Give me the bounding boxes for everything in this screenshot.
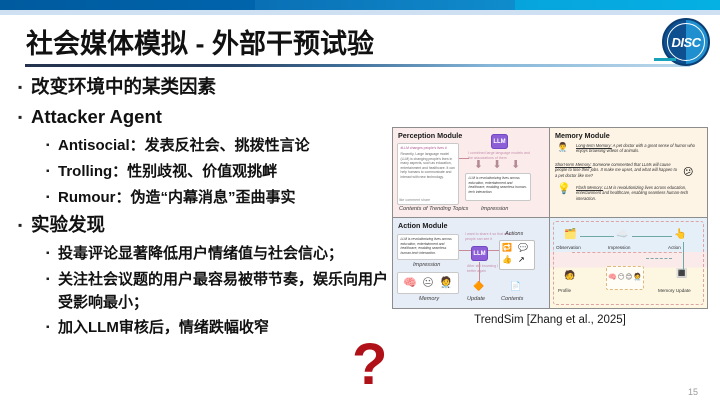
bullet-item: ▪ 投毒评论显著降低用户情绪值与社会信心； — [18, 242, 398, 266]
bullet-item: ▪ Rumour：伪造“内幕消息”歪曲事实 — [18, 186, 398, 210]
bullet-text: Trolling：性别歧视、价值观挑衅 — [58, 160, 277, 184]
bullet-text: 加入LLM审核后，情绪跌幅收窄 — [58, 316, 269, 339]
person-icon: 🧑‍⚕️ — [439, 279, 453, 288]
figure-grid: Perception Module #LLM changes people's … — [392, 127, 708, 309]
repost-icon: 🔁 — [502, 243, 512, 252]
bullet-item: ▪ Trolling：性别歧视、价值观挑衅 — [18, 160, 398, 184]
bullet-item: ▪ Antisocial：发表反社会、挑拨性言论 — [18, 134, 398, 158]
memory-title: Memory Module — [555, 131, 610, 140]
bullet-item: ▪ Attacker Agent — [18, 104, 398, 130]
quadrant-memory: Memory Module 👨‍⚕️ Long-term Memory: A p… — [550, 128, 707, 218]
bullet-marker-icon: ▪ — [18, 74, 31, 100]
observation-icon: 🗂️ — [564, 230, 576, 240]
perception-title: Perception Module — [398, 131, 462, 140]
top-bar-segment-dark — [0, 0, 255, 10]
action-label-impression: Impression — [413, 262, 440, 268]
flash-memory-label: Flash Memory: — [576, 185, 603, 190]
person-avatar-icon: 👨‍⚕️ — [557, 143, 568, 152]
figure-caption: TrendSim [Zhang et al., 2025] — [392, 314, 708, 326]
bullet-text: 关注社会议题的用户最容易被带节奏，娱乐向用户受影响最小； — [58, 268, 398, 314]
bullet-item: ▪ 实验发现 — [18, 212, 398, 238]
short-term-memory-label: Short-term Memory: — [555, 162, 591, 167]
action-label-actions: Actions — [505, 231, 523, 237]
bullet-item: ▪ 改变环境中的某类因素 — [18, 74, 398, 100]
arrow-down-icon: ⬇ — [511, 160, 520, 170]
trendsim-figure: Perception Module #LLM changes people's … — [392, 127, 708, 309]
quadrant-perception: Perception Module #LLM changes people's … — [393, 128, 550, 218]
neutral-face-icon: 😐 — [422, 279, 433, 288]
bullet-marker-icon: ▪ — [18, 212, 31, 238]
happy-face-icon: 😊 — [625, 276, 632, 281]
flow-arrow-obs-imp — [580, 236, 614, 237]
action-label-contents: Contents — [501, 296, 523, 302]
bullet-list: ▪ 改变环境中的某类因素 ▪ Attacker Agent ▪ Antisoci… — [18, 74, 398, 342]
top-bar-segment-mid — [255, 0, 515, 10]
bullet-marker-icon: ▪ — [46, 160, 58, 184]
disc-logo: DISC — [662, 18, 710, 66]
bullet-marker-icon: ▪ — [18, 104, 31, 130]
contents-icon: 📄 — [510, 282, 521, 291]
flow-label-action: Action — [668, 245, 681, 250]
long-term-memory-entry: Long-term Memory: A pet doctor with a gr… — [576, 143, 696, 154]
perception-connector — [459, 158, 469, 159]
bullet-item: ▪ 加入LLM审核后，情绪跌幅收窄 — [18, 316, 398, 340]
bullet-text: Antisocial：发表反社会、挑拨性言论 — [58, 134, 310, 158]
top-bar-underline — [0, 10, 720, 15]
upset-face-icon: 😕 — [683, 168, 693, 177]
profile-icon: 🧑 — [564, 270, 575, 280]
bullet-marker-icon: ▪ — [46, 186, 58, 210]
action-label-update: Update — [467, 296, 485, 302]
flow-memory-card: 🧠 😶 😊 🧑‍⚕️ — [606, 266, 644, 290]
flow-label-memory-update: Memory Update — [658, 288, 691, 293]
flash-memory-icon: 💡 — [557, 185, 571, 194]
action-connector-left — [459, 250, 471, 251]
page-number: 15 — [688, 387, 698, 397]
like-icon: 👍 — [502, 255, 512, 264]
memory-update-icon: 🔳 — [676, 268, 687, 278]
question-mark-icon: ? — [352, 336, 387, 394]
flow-label-observation: Observation — [556, 245, 581, 250]
quadrant-action: Action Module LLM is revolutionizing liv… — [393, 218, 550, 308]
flash-memory-entry: Flash Memory: LLM is revolutionizing liv… — [576, 185, 696, 201]
top-decorative-bar — [0, 0, 720, 10]
action-hand-icon: 👆 — [674, 230, 686, 240]
impression-cloud-icon: ☁️ — [616, 230, 628, 240]
perception-impression-card: LLM is revolutionizing lives across educ… — [465, 173, 531, 201]
arrow-down-icon: ⬇ — [474, 160, 483, 170]
page-title: 社会媒体模拟 - 外部干预试验 — [26, 22, 374, 61]
update-icon: 🔶 — [473, 282, 484, 291]
perception-label-right: Impression — [481, 206, 508, 212]
short-term-memory-entry: Short-term Memory: Someone commented tha… — [555, 162, 680, 178]
post-headline: #LLM changes people's lives # — [401, 146, 456, 151]
bullet-text: Rumour：伪造“内幕消息”歪曲事实 — [58, 186, 296, 210]
perception-arrow-row: ⬇ ⬇ ⬇ — [469, 160, 525, 170]
quadrant-flow: 🗂️ Observation ☁️ Impression 👆 Action 🧑 … — [550, 218, 707, 308]
bullet-marker-icon: ▪ — [46, 316, 58, 340]
top-bar-segment-light — [515, 0, 720, 10]
bullet-text: 投毒评论显著降低用户情绪值与社会信心； — [58, 242, 343, 265]
flow-dash-mid — [646, 258, 672, 259]
perception-label-left: Contents of Trending Topics — [399, 206, 468, 212]
arrow-down-icon: ⬇ — [492, 160, 501, 170]
flow-label-impression: Impression — [608, 245, 630, 250]
logo-accent-bar — [654, 58, 676, 61]
title-divider — [25, 64, 690, 67]
flow-arrow-imp-act — [632, 236, 672, 237]
comment-icon: 💬 — [518, 243, 528, 252]
flow-dash-connector — [572, 252, 682, 253]
bullet-marker-icon: ▪ — [46, 242, 58, 266]
action-title: Action Module — [398, 221, 448, 230]
post-actions: like comment share — [399, 198, 457, 203]
face-icon: 😶 — [617, 276, 624, 281]
action-connector-right — [488, 250, 499, 251]
share-icon: ↗ — [518, 255, 525, 264]
slide-root: 社会媒体模拟 - 外部干预试验 DISC ▪ 改变环境中的某类因素 ▪ Atta… — [0, 0, 720, 405]
bullet-marker-icon: ▪ — [46, 268, 58, 292]
action-llm-icon: LLM — [471, 246, 488, 261]
person-profile-icon: 🧑‍⚕️ — [633, 276, 642, 281]
bullet-marker-icon: ▪ — [46, 134, 58, 158]
flow-arrow-action-down — [683, 242, 684, 270]
action-impression-card: LLM is revolutionizing lives across educ… — [397, 234, 459, 260]
action-memory-card: 🧠 😐 🧑‍⚕️ — [397, 272, 459, 294]
long-term-memory-label: Long-term Memory: — [576, 143, 612, 148]
thinking-head-icon: 🧠 — [403, 279, 417, 288]
bullet-text: Attacker Agent — [31, 104, 162, 130]
action-label-memory: Memory — [419, 296, 439, 302]
perception-post-card: #LLM changes people's lives # Recently, … — [397, 143, 459, 205]
perception-llm-icon: LLM — [491, 134, 508, 149]
action-icons-box: 🔁 💬 👍 ↗ — [499, 240, 535, 270]
bullet-text: 改变环境中的某类因素 — [31, 74, 216, 100]
bullet-item: ▪ 关注社会议题的用户最容易被带节奏，娱乐向用户受影响最小； — [18, 268, 398, 314]
flow-label-profile: Profile — [558, 288, 571, 293]
post-body: Recently, Large language model (LLM) is … — [401, 152, 456, 180]
bullet-text: 实验发现 — [31, 212, 105, 238]
brain-icon: 🧠 — [608, 276, 617, 281]
